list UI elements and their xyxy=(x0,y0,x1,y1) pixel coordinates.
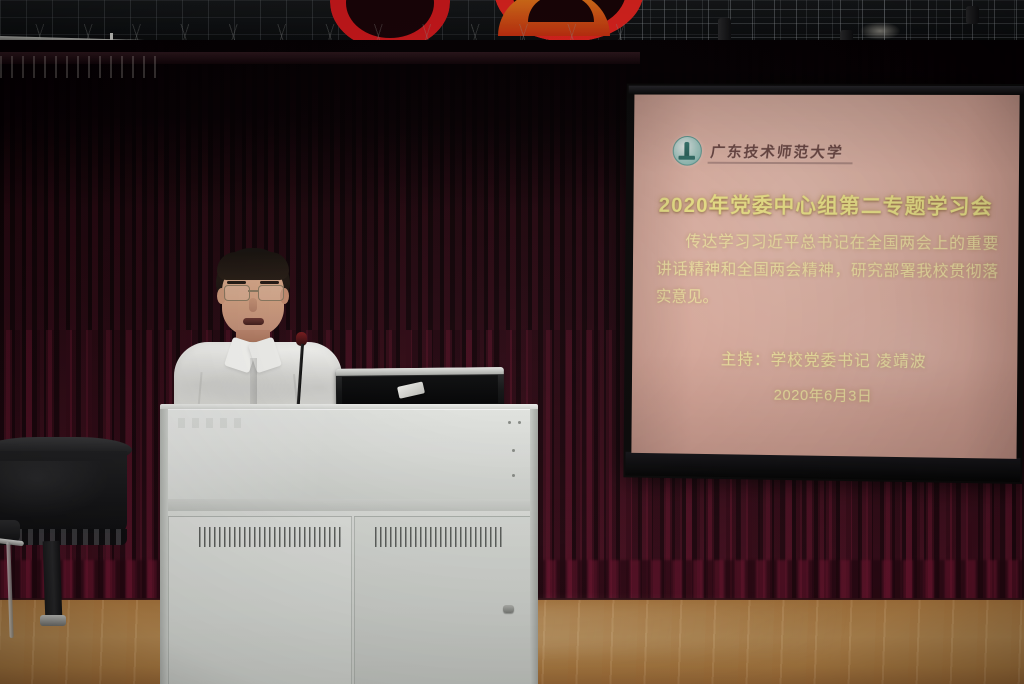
table-leg xyxy=(43,541,63,622)
slide-body-text: 传达学习习近平总书记在全国两会上的重要讲话精神和全国两会精神，研究部署我校贯彻落… xyxy=(656,229,999,315)
table-skirt-sheen xyxy=(0,461,110,519)
track-light-3 xyxy=(966,6,979,24)
lectern-cabinet-door-left[interactable] xyxy=(168,516,352,684)
lectern-screw-3 xyxy=(512,449,515,452)
male-speaker xyxy=(170,248,350,428)
chrome-frame-chair xyxy=(0,520,36,660)
lectern-screw-2 xyxy=(518,421,521,424)
banner-inner-cut xyxy=(528,0,594,22)
lectern-screw-4 xyxy=(512,474,515,477)
slide-surface: 广东技术师范大学 2020年党委中心组第二专题学习会 传达学习习近平总书记在全国… xyxy=(631,95,1019,459)
metal-lectern xyxy=(160,404,538,684)
screen-top-bar xyxy=(629,86,1024,95)
university-emblem-icon xyxy=(673,136,702,166)
table-foot xyxy=(40,615,66,626)
lectern-screw-1 xyxy=(508,421,511,424)
speaker-mouth xyxy=(243,318,264,325)
speaker-nose xyxy=(249,298,257,312)
slide-host-line: 主持：学校党委书记 凌靖波 xyxy=(632,345,1017,373)
curtain-hooks xyxy=(0,56,160,78)
lectern-vent-slots-left xyxy=(199,527,343,547)
photo-scene: 广东技术师范大学 2020年党委中心组第二专题学习会 传达学习习近平总书记在全国… xyxy=(0,0,1024,684)
speaker-eyebrow-right xyxy=(260,281,279,284)
lectern-left-edge xyxy=(160,409,168,684)
projection-screen: 广东技术师范大学 2020年党委中心组第二专题学习会 传达学习习近平总书记在全国… xyxy=(623,84,1024,484)
lectern-embossed-text xyxy=(178,418,248,428)
slide-date: 2020年6月3日 xyxy=(632,382,1017,408)
lectern-cabinet-door-right[interactable] xyxy=(354,516,532,684)
lectern-door-lock[interactable] xyxy=(503,605,514,613)
slide-title: 2020年党委中心组第二专题学习会 xyxy=(633,189,1018,221)
lectern-right-edge xyxy=(530,409,538,684)
university-name: 广东技术师范大学 xyxy=(709,141,844,162)
speaker-eyebrow-left xyxy=(227,281,246,284)
chair-leg-back xyxy=(6,542,13,638)
lectern-vent-slots-right xyxy=(375,527,505,547)
speaker-hair-front xyxy=(217,252,289,280)
ceiling-lamp-glow xyxy=(860,22,900,40)
